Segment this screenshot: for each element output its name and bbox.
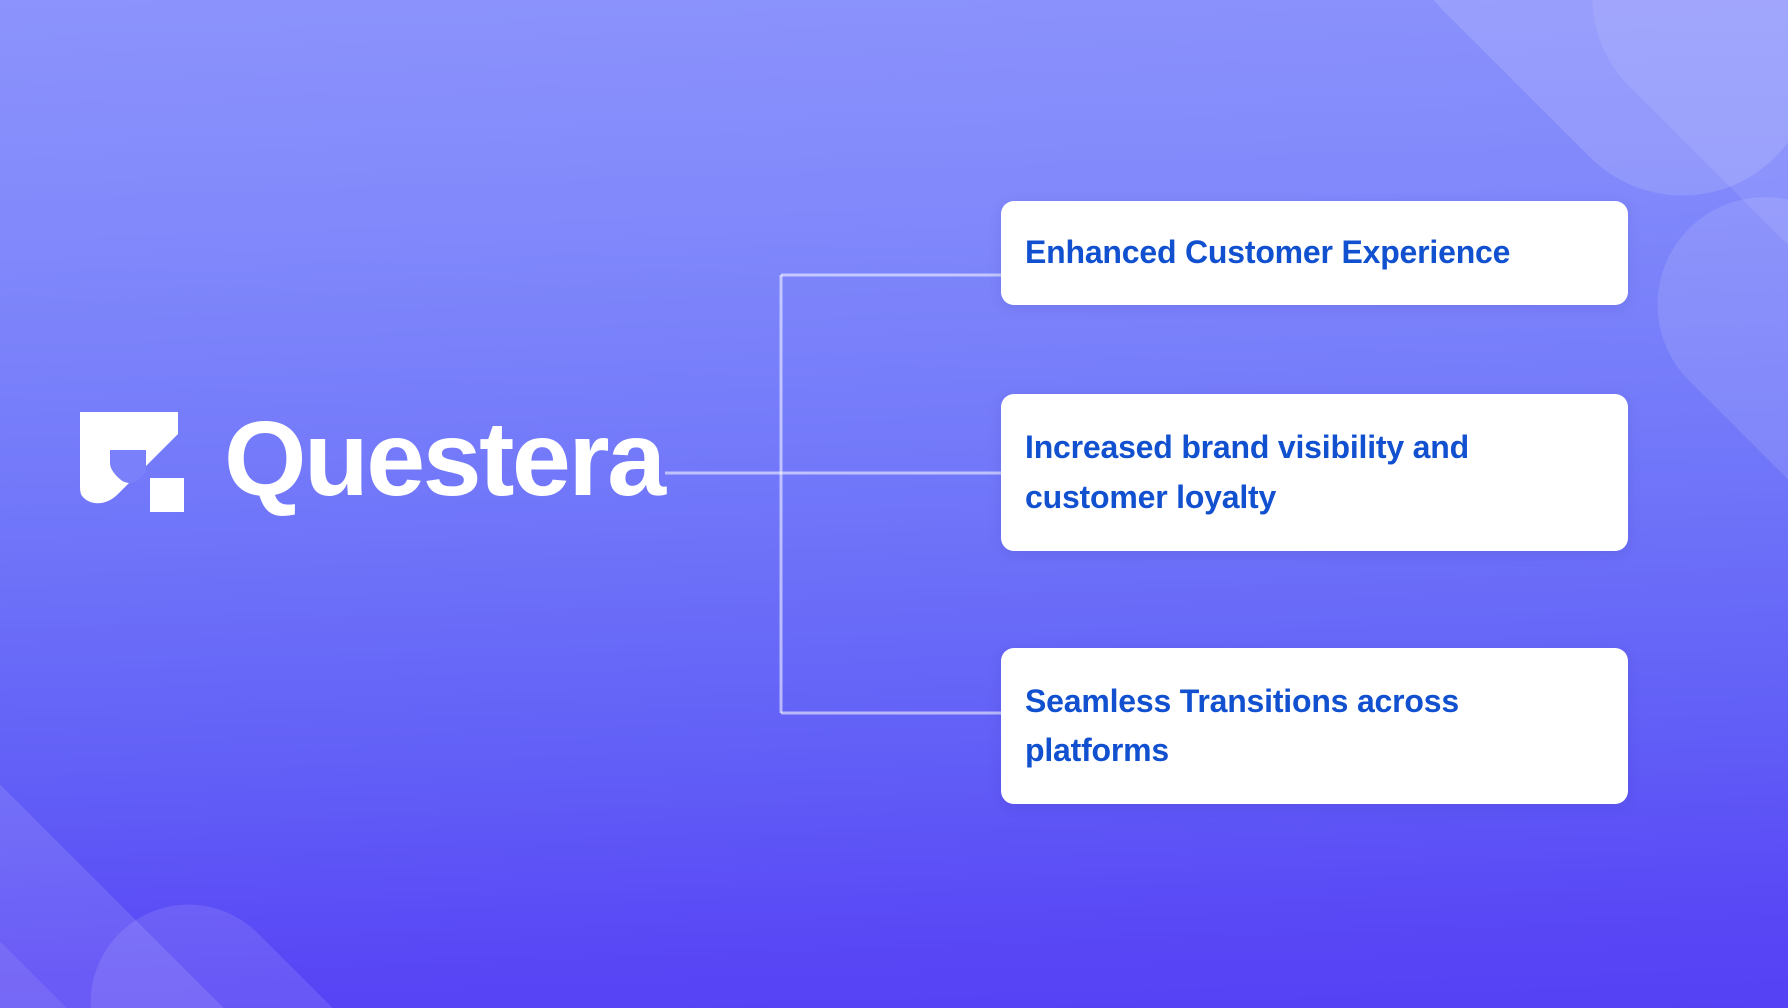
decorative-blob-bottom-left-1 xyxy=(0,658,326,1008)
brand-lockup: Questera xyxy=(80,412,664,512)
slide-canvas: Questera Enhanced Customer Experience In… xyxy=(0,0,1788,1008)
benefit-card-line-2: customer loyalty xyxy=(1025,473,1469,522)
benefit-card[interactable]: Seamless Transitions across platforms xyxy=(1001,648,1628,804)
benefit-card[interactable]: Increased brand visibility and customer … xyxy=(1001,394,1628,551)
questera-logo-icon xyxy=(80,412,184,512)
decorative-blob-bottom-left-2 xyxy=(0,797,223,1008)
benefit-card-line-1: Enhanced Customer Experience xyxy=(1025,234,1510,270)
decorative-blob-top-right-2 xyxy=(1539,0,1788,392)
brand-wordmark: Questera xyxy=(224,406,664,512)
decorative-blob-bottom-left-3 xyxy=(50,864,514,1008)
benefit-card-line-1: Increased brand visibility and xyxy=(1025,423,1469,472)
benefit-card-text: Seamless Transitions across platforms xyxy=(1025,677,1459,776)
benefit-card[interactable]: Enhanced Customer Experience xyxy=(1001,201,1628,305)
decorative-blob-top-right-3 xyxy=(1613,153,1788,588)
benefit-card-text: Enhanced Customer Experience xyxy=(1025,228,1510,277)
benefit-card-text: Increased brand visibility and customer … xyxy=(1025,423,1469,522)
benefit-card-line-1: Seamless Transitions across xyxy=(1025,677,1459,726)
benefit-card-line-2: platforms xyxy=(1025,726,1459,775)
